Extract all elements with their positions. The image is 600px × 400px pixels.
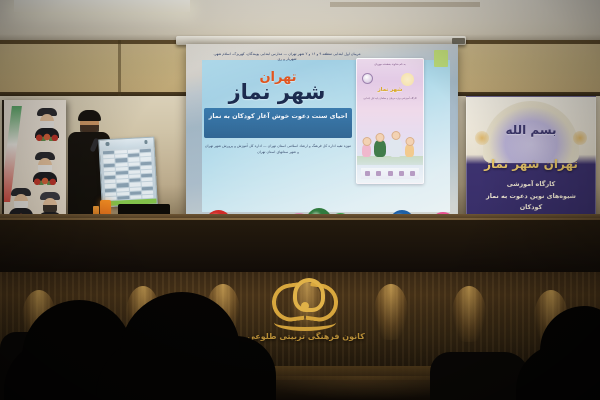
- kanoon-tulip-logo-icon: [272, 278, 338, 330]
- venue-logo-text: کانون فرهنگی تربیتی طلوعی: [238, 332, 374, 341]
- photo-scene: مربیان اول ابتدایی منطقه ۹ و ۱۶ و ۲ شهر …: [0, 0, 600, 400]
- wall-spot-light: [374, 284, 408, 340]
- audience-chair: [430, 352, 530, 400]
- wall-spot-light: [452, 286, 486, 342]
